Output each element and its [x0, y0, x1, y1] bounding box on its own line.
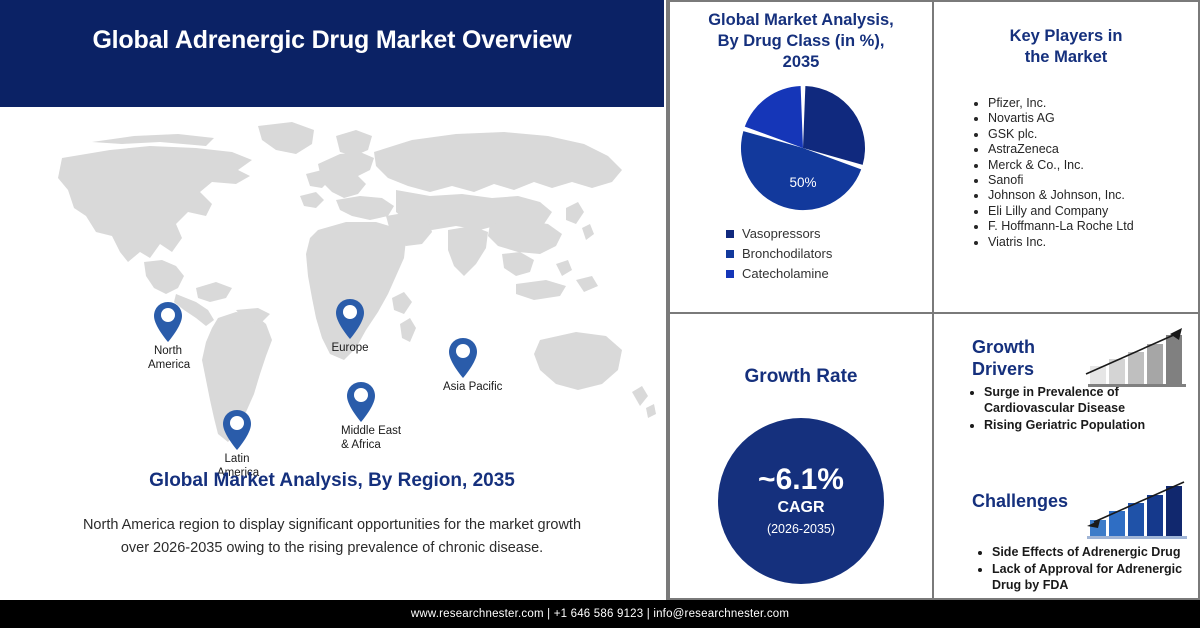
growth-rate-metric: CAGR	[777, 497, 824, 519]
pin-label-line1: Europe	[330, 342, 370, 355]
legend-swatch-icon	[726, 250, 734, 258]
ascending-bar-chart-gray-icon	[1084, 326, 1190, 388]
growth-rate-panel: Growth Rate ~6.1% CAGR (2026-2035)	[668, 312, 934, 600]
legend-item-bronchodilators: Bronchodilators	[726, 244, 932, 264]
region-analysis-heading: Global Market Analysis, By Region, 2035	[0, 470, 664, 492]
map-pin-north-america[interactable]: North America	[148, 300, 188, 372]
list-item: Viatris Inc.	[988, 235, 1198, 250]
list-item: Side Effects of Adrenergic Drug	[992, 544, 1198, 560]
list-item: Eli Lilly and Company	[988, 204, 1198, 219]
drug-class-title-line1: Global Market Analysis,	[680, 10, 922, 31]
growth-rate-period: (2026-2035)	[767, 519, 835, 539]
title-bar: Global Adrenergic Drug Market Overview	[0, 0, 664, 110]
location-pin-icon	[333, 297, 367, 341]
ascending-bar-chart-blue-icon	[1084, 478, 1190, 540]
page-title: Global Adrenergic Drug Market Overview	[0, 26, 664, 55]
legend-swatch-icon	[726, 270, 734, 278]
legend-item-catecholamine: Catecholamine	[726, 264, 932, 284]
list-item: AstraZeneca	[988, 142, 1198, 157]
list-item: Lack of Approval for Adrenergic Drug by …	[992, 561, 1198, 593]
drivers-challenges-panel: Growth Drivers Surge in Prevalence of Ca…	[932, 312, 1200, 600]
legend-label: Vasopressors	[742, 224, 821, 244]
list-item: Sanofi	[988, 173, 1198, 188]
growth-rate-title: Growth Rate	[670, 366, 932, 387]
pin-label-line1: Latin	[217, 453, 257, 466]
pin-label-line1: Asia Pacific	[443, 381, 483, 394]
challenges-header: Challenges	[934, 466, 1198, 532]
pie-data-label: 50%	[670, 175, 936, 190]
growth-rate-circle: ~6.1% CAGR (2026-2035)	[718, 418, 884, 584]
pin-label-line1: Middle East	[341, 425, 381, 438]
growth-drivers-block: Growth Drivers Surge in Prevalence of Ca…	[934, 314, 1198, 434]
footer: www.researchnester.com | +1 646 586 9123…	[0, 600, 1200, 628]
list-item: Novartis AG	[988, 111, 1198, 126]
challenges-block: Challenges Side Effects of Adrenergic Dr…	[934, 466, 1198, 594]
location-pin-icon	[344, 380, 378, 424]
legend-label: Bronchodilators	[742, 244, 832, 264]
legend-label: Catecholamine	[742, 264, 829, 284]
key-players-title-line2: the Market	[948, 47, 1184, 68]
drug-class-title-line3: 2035	[680, 52, 922, 73]
infographic-root: Global Adrenergic Drug Market Overview	[0, 0, 1200, 628]
list-item: Pfizer, Inc.	[988, 96, 1198, 111]
challenges-title: Challenges	[972, 490, 1092, 512]
map-panel: Global Adrenergic Drug Market Overview	[0, 0, 668, 628]
growth-drivers-header: Growth Drivers	[934, 314, 1198, 380]
region-analysis-description: North America region to display signific…	[72, 514, 592, 560]
pie-chart-svg	[670, 81, 936, 216]
footer-text: www.researchnester.com | +1 646 586 9123…	[411, 608, 789, 620]
list-item: F. Hoffmann-La Roche Ltd	[988, 219, 1198, 234]
key-players-panel: Key Players in the Market Pfizer, Inc. N…	[932, 0, 1200, 314]
pie-chart: 50%	[670, 81, 936, 216]
key-players-title-line1: Key Players in	[948, 26, 1184, 47]
map-pin-europe[interactable]: Europe	[330, 297, 370, 355]
legend-item-vasopressors: Vasopressors	[726, 224, 932, 244]
map-pin-middle-east-africa[interactable]: Middle East & Africa	[341, 380, 381, 452]
world-map: North America Latin America Europe	[0, 112, 664, 462]
growth-drivers-title-line1: Growth	[972, 336, 1092, 358]
key-players-list: Pfizer, Inc. Novartis AG GSK plc. AstraZ…	[980, 96, 1198, 250]
location-pin-icon	[151, 300, 185, 344]
map-pin-asia-pacific[interactable]: Asia Pacific	[443, 336, 483, 394]
growth-drivers-title: Growth Drivers	[972, 336, 1092, 380]
world-map-svg	[0, 112, 664, 462]
growth-drivers-title-line2: Drivers	[972, 358, 1092, 380]
drug-class-title: Global Market Analysis, By Drug Class (i…	[670, 10, 932, 73]
pin-label-line1: North	[148, 345, 188, 358]
legend-swatch-icon	[726, 230, 734, 238]
pie-legend: Vasopressors Bronchodilators Catecholami…	[670, 224, 932, 284]
drug-class-title-line2: By Drug Class (in %),	[680, 31, 922, 52]
location-pin-icon	[446, 336, 480, 380]
list-item: Johnson & Johnson, Inc.	[988, 188, 1198, 203]
list-item: GSK plc.	[988, 127, 1198, 142]
location-pin-icon	[220, 408, 254, 452]
pin-label-line2: & Africa	[341, 439, 381, 452]
growth-rate-value: ~6.1%	[758, 463, 844, 497]
key-players-title: Key Players in the Market	[934, 26, 1198, 68]
challenges-list: Side Effects of Adrenergic Drug Lack of …	[978, 532, 1198, 593]
list-item: Merck & Co., Inc.	[988, 158, 1198, 173]
drug-class-panel: Global Market Analysis, By Drug Class (i…	[668, 0, 934, 314]
pin-label-line2: America	[148, 359, 188, 372]
list-item: Surge in Prevalence of Cardiovascular Di…	[984, 384, 1198, 416]
list-item: Rising Geriatric Population	[984, 417, 1198, 433]
